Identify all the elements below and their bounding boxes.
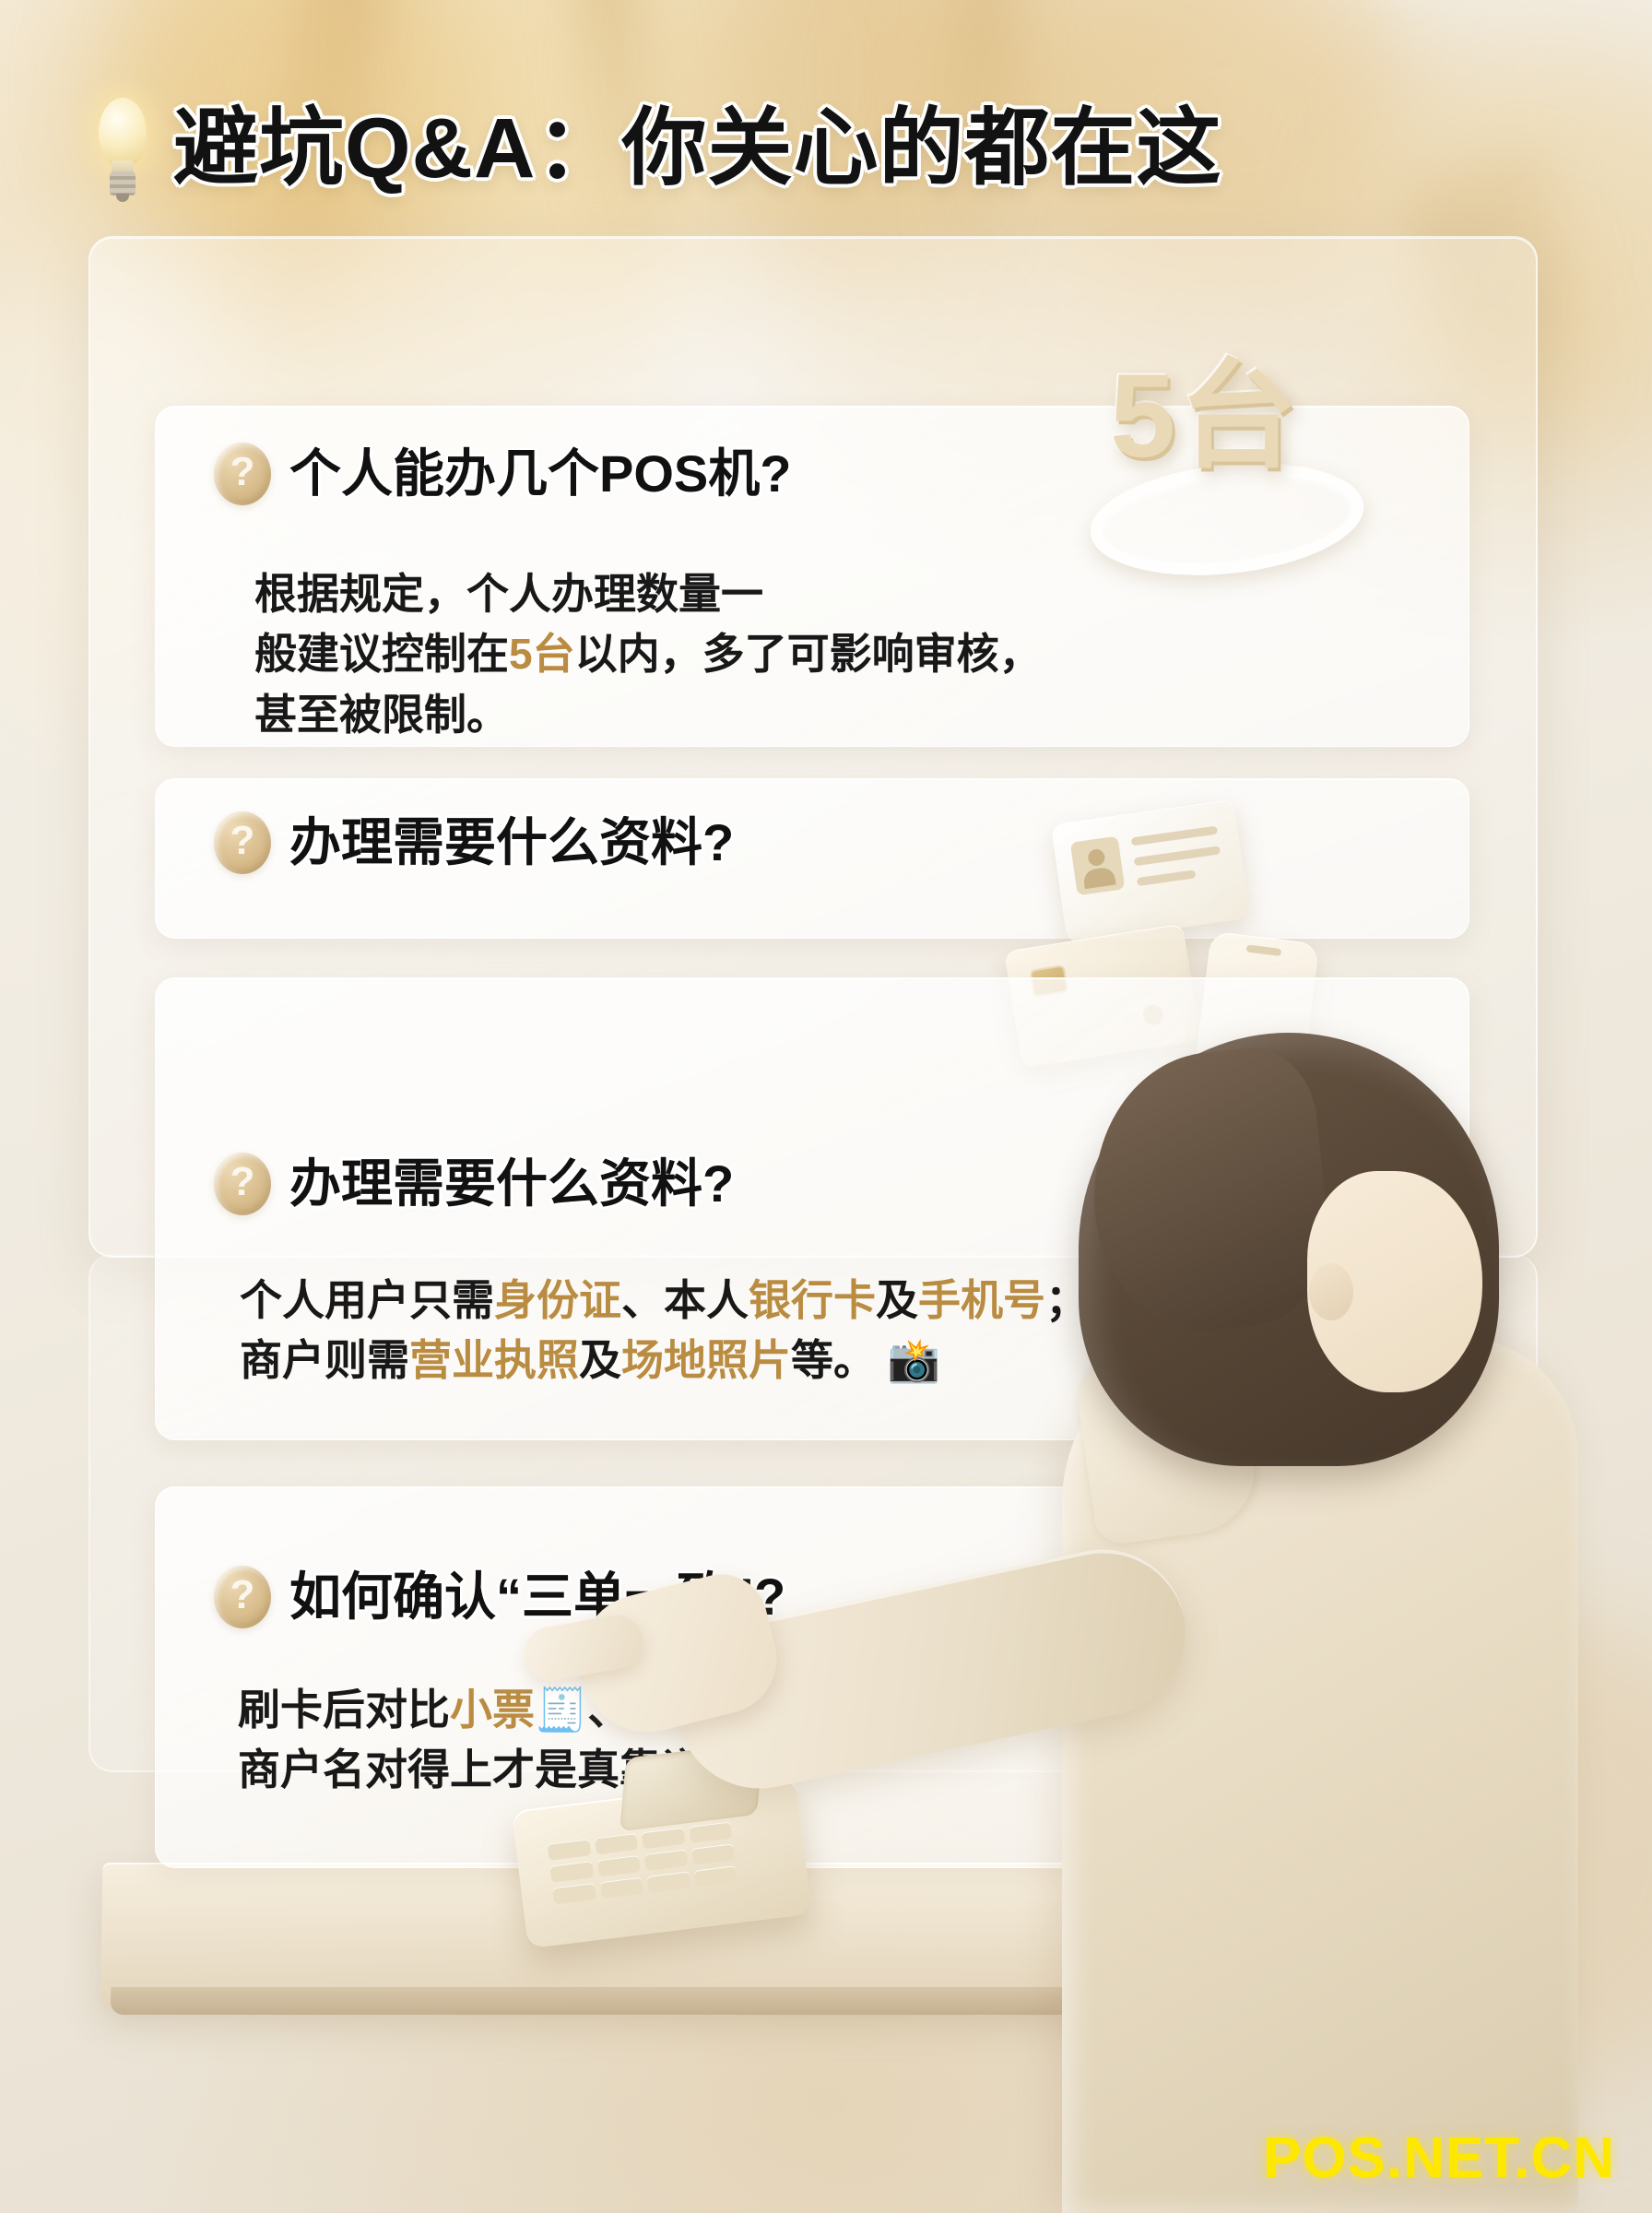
phone-notch [1246, 944, 1282, 956]
lightbulb-glass [99, 98, 147, 168]
pos-key [597, 1855, 641, 1876]
page-title: 避坑Q&A：你关心的都在这 [173, 106, 1221, 191]
lightbulb-tip [116, 194, 129, 202]
highlight-term: 银行卡 [749, 1276, 876, 1324]
question-mark-icon: ? [214, 811, 271, 874]
body-line: 般建议控制在5台以内，多了可影响审核， [254, 624, 1042, 684]
qa-card-2-heading: ? 办理需要什么资料? [214, 811, 734, 874]
character-ear [1309, 1263, 1353, 1320]
question-mark-icon: ? [214, 1566, 271, 1628]
receipt-icon: 🧾 [535, 1686, 587, 1734]
character-illustration [922, 1033, 1652, 2213]
highlight-term: 营业执照 [409, 1336, 579, 1384]
id-line [1131, 826, 1218, 846]
body-line: 根据规定，个人办理数量一 [254, 564, 1042, 624]
watermark: POS.NET.CN [1263, 2130, 1615, 2187]
page-header: 避坑Q&A：你关心的都在这 [88, 89, 1139, 208]
question-mark-icon: ? [214, 443, 271, 505]
qa-card-1-question: 个人能办几个POS机? [289, 445, 791, 503]
qa-card-3-question: 办理需要什么资料? [289, 1155, 734, 1213]
highlight-term: 小票 [450, 1686, 535, 1734]
pos-key [549, 1861, 593, 1882]
qa-card-1-body: 根据规定，个人办理数量一 般建议控制在5台以内，多了可影响审核， 甚至被限制。 [254, 564, 1042, 745]
question-mark-icon: ? [214, 1153, 271, 1215]
highlight-term: 场地照片 [621, 1336, 791, 1384]
pos-key [691, 1843, 735, 1864]
pos-key [644, 1850, 688, 1871]
id-card-icon [1051, 799, 1250, 944]
five-units-3d-decor: 5台 [1079, 352, 1355, 583]
highlight-term: 身份证 [494, 1276, 621, 1324]
decor-five-units-label: 5台 [1110, 358, 1301, 476]
highlight-term: 5台 [509, 630, 575, 678]
qa-card-3-heading: ? 办理需要什么资料? [214, 1153, 734, 1215]
qa-card-1-heading: ? 个人能办几个POS机? [214, 443, 791, 505]
lightbulb-base [110, 172, 136, 195]
id-photo [1070, 836, 1126, 896]
lightbulb-icon [88, 94, 157, 203]
qa-card-2-question: 办理需要什么资料? [289, 814, 734, 872]
body-line: 甚至被限制。 [254, 685, 1042, 745]
id-line [1134, 846, 1221, 866]
id-line [1137, 870, 1197, 886]
